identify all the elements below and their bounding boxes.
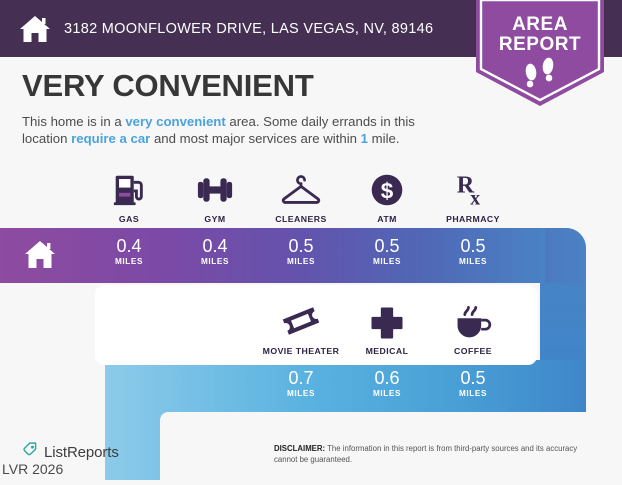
category-gym[interactable]: GYM bbox=[172, 166, 258, 224]
distance-value: 0.4 bbox=[86, 236, 172, 256]
distance-value: 0.7 bbox=[258, 368, 344, 388]
category-label: ATM bbox=[377, 214, 397, 224]
category-label: GYM bbox=[204, 214, 225, 224]
listreports-tag-icon bbox=[22, 441, 39, 463]
distance-unit: MILES bbox=[258, 257, 344, 266]
distance-cell: 0.5 MILES bbox=[430, 236, 516, 266]
category-label: PHARMACY bbox=[446, 214, 500, 224]
blurb-part-3: and most major services are within bbox=[150, 131, 360, 146]
distance-cell: 0.7 MILES bbox=[258, 368, 344, 398]
category-label: MEDICAL bbox=[366, 346, 409, 356]
dumbbell-icon bbox=[195, 166, 235, 208]
rx-icon: R x bbox=[455, 166, 491, 208]
distance-cell: 0.5 MILES bbox=[430, 368, 516, 398]
hanger-icon bbox=[280, 166, 322, 208]
distance-value: 0.5 bbox=[430, 236, 516, 256]
distance-unit: MILES bbox=[172, 257, 258, 266]
distance-cell: 0.6 MILES bbox=[344, 368, 430, 398]
distance-cell: 0.4 MILES bbox=[86, 236, 172, 266]
disclaimer: DISCLAIMER: The information in this repo… bbox=[274, 444, 594, 465]
category-label: COFFEE bbox=[454, 346, 492, 356]
listreports-logo-text: ListReports bbox=[44, 444, 119, 461]
blurb-highlight-3: 1 bbox=[361, 131, 368, 146]
coffee-cup-icon bbox=[453, 298, 493, 340]
page-title: VERY CONVENIENT bbox=[22, 68, 314, 104]
blurb-part-1: This home is in a bbox=[22, 114, 125, 129]
distance-unit: MILES bbox=[258, 389, 344, 398]
movie-ticket-icon bbox=[281, 298, 321, 340]
header-address: 3182 MOONFLOWER DRIVE, LAS VEGAS, NV, 89… bbox=[64, 21, 433, 37]
category-movie-theater[interactable]: MOVIE THEATER bbox=[258, 298, 344, 356]
category-icon-row-1: GAS GYM CLEANERS $ bbox=[86, 166, 516, 224]
distance-cell: 0.5 MILES bbox=[258, 236, 344, 266]
svg-text:$: $ bbox=[381, 179, 394, 204]
listreports-logo[interactable]: ListReports bbox=[22, 441, 119, 463]
blurb-part-4: mile. bbox=[368, 131, 400, 146]
distance-unit: MILES bbox=[344, 257, 430, 266]
category-label: GAS bbox=[119, 214, 139, 224]
distance-values-row-1: 0.4 MILES 0.4 MILES 0.5 MILES 0.5 MILES … bbox=[86, 236, 516, 266]
badge-line-2: REPORT bbox=[476, 35, 604, 55]
distance-values-row-2: 0.7 MILES 0.6 MILES 0.5 MILES bbox=[258, 368, 516, 398]
distance-unit: MILES bbox=[430, 257, 516, 266]
lvr-code: LVR 2026 bbox=[2, 461, 63, 477]
dollar-coin-icon: $ bbox=[369, 166, 405, 208]
distance-unit: MILES bbox=[344, 389, 430, 398]
distance-unit: MILES bbox=[430, 389, 516, 398]
badge-line-1: AREA bbox=[476, 15, 604, 35]
category-gas[interactable]: GAS bbox=[86, 166, 172, 224]
disclaimer-label: DISCLAIMER: bbox=[274, 444, 325, 453]
category-atm[interactable]: $ ATM bbox=[344, 166, 430, 224]
home-icon bbox=[18, 12, 52, 46]
distance-value: 0.5 bbox=[258, 236, 344, 256]
category-coffee[interactable]: COFFEE bbox=[430, 298, 516, 356]
category-medical[interactable]: MEDICAL bbox=[344, 298, 430, 356]
gas-pump-icon bbox=[110, 166, 148, 208]
distance-value: 0.6 bbox=[344, 368, 430, 388]
category-icon-row-2: MOVIE THEATER MEDICAL COFFEE bbox=[258, 298, 516, 356]
svg-text:x: x bbox=[470, 187, 480, 208]
category-label: MOVIE THEATER bbox=[263, 346, 340, 356]
medical-cross-icon bbox=[370, 298, 404, 340]
summary-text: This home is in a very convenient area. … bbox=[22, 113, 452, 147]
distance-unit: MILES bbox=[86, 257, 172, 266]
distance-cell: 0.5 MILES bbox=[344, 236, 430, 266]
blurb-highlight-2: require a car bbox=[71, 131, 150, 146]
category-cleaners[interactable]: CLEANERS bbox=[258, 166, 344, 224]
home-marker-icon bbox=[20, 238, 60, 272]
category-pharmacy[interactable]: R x PHARMACY bbox=[430, 166, 516, 224]
category-label: CLEANERS bbox=[275, 214, 326, 224]
badge-label: AREA REPORT bbox=[476, 15, 604, 55]
distance-value: 0.4 bbox=[172, 236, 258, 256]
distance-cell: 0.4 MILES bbox=[172, 236, 258, 266]
blurb-highlight-1: very convenient bbox=[125, 114, 225, 129]
distance-value: 0.5 bbox=[430, 368, 516, 388]
distance-value: 0.5 bbox=[344, 236, 430, 256]
area-report-badge: AREA REPORT bbox=[476, 0, 604, 106]
